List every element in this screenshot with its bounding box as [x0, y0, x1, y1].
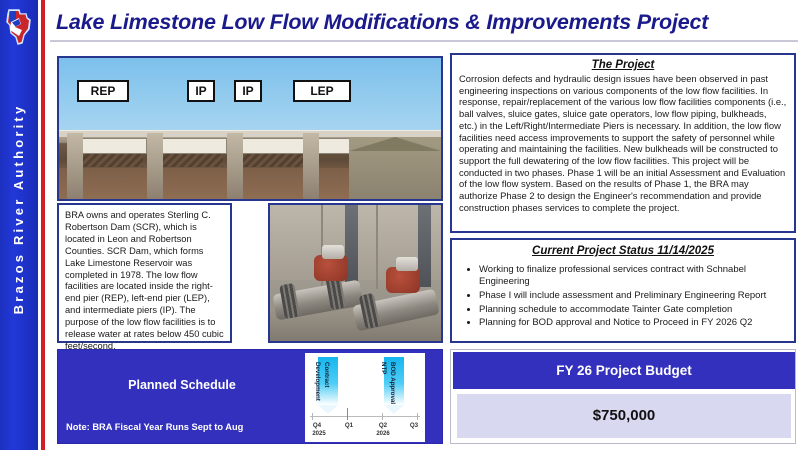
dam-pier [147, 133, 163, 199]
dam-truss [78, 154, 143, 167]
milestone-marker-contract-development: Contract Development [318, 357, 338, 405]
budget-panel: FY 26 Project Budget $750,000 [450, 349, 796, 444]
status-heading: Current Project Status 11/14/2025 [459, 245, 787, 257]
dam-truss [158, 154, 223, 167]
wall-seam [376, 205, 378, 289]
valve-operator [322, 245, 344, 259]
dam-pier [227, 133, 243, 199]
dam-photo: REP IP IP LEP [57, 56, 443, 201]
dam-pier [67, 133, 83, 199]
list-item: Planning for BOD approval and Notice to … [479, 317, 787, 329]
axis-label-q1: Q1 [338, 422, 360, 429]
bra-description-text: BRA owns and operates Sterling C. Robert… [57, 203, 232, 343]
dam-gate [235, 138, 308, 154]
axis-tick [417, 413, 418, 420]
axis-tick-major [347, 408, 348, 420]
dam-gate [74, 138, 147, 154]
axis-label-q2: Q2 [372, 422, 394, 429]
dam-deck [59, 130, 441, 137]
schedule-note: Note: BRA Fiscal Year Runs Sept to Aug [66, 422, 308, 432]
project-status-panel: Current Project Status 11/14/2025 Workin… [450, 238, 796, 343]
timeline-axis [310, 416, 420, 417]
list-item: Working to finalize professional service… [479, 264, 787, 288]
brand-sidebar: Brazos River Authority [0, 0, 38, 450]
schedule-title: Planned Schedule [66, 378, 298, 392]
axis-year-2025: 2025 [305, 431, 333, 437]
schedule-timeline-chart: Contract Development BOD Approval NTP Q4… [305, 353, 425, 442]
dam-truss [239, 154, 304, 167]
photo-label-ip-2: IP [234, 80, 262, 102]
slide-root: Brazos River Authority Lake Limestone Lo… [0, 0, 800, 450]
planned-schedule-panel: Planned Schedule Note: BRA Fiscal Year R… [57, 349, 443, 444]
valves-photo [268, 203, 443, 343]
brand-name: Brazos River Authority [0, 93, 38, 325]
project-heading: The Project [459, 59, 787, 71]
project-body-text: Corrosion defects and hydraulic design i… [459, 73, 787, 213]
texas-state-logo-icon [4, 6, 34, 48]
accent-stripe [41, 0, 45, 450]
status-bullet-list: Working to finalize professional service… [479, 264, 787, 330]
budget-header: FY 26 Project Budget [453, 352, 795, 389]
milestone-marker-bod-approval-ntp: BOD Approval NTP [384, 357, 404, 405]
budget-amount: $750,000 [457, 394, 791, 438]
list-item: Phase I will include assessment and Prel… [479, 290, 787, 302]
photo-label-rep: REP [77, 80, 129, 102]
milestone-label: Contract Development [313, 362, 331, 408]
milestone-label: BOD Approval NTP [379, 362, 397, 408]
page-title: Lake Limestone Low Flow Modifications & … [56, 6, 796, 38]
axis-label-q3: Q3 [403, 422, 425, 429]
project-description-panel: The Project Corrosion defects and hydrau… [450, 53, 796, 233]
title-divider [50, 40, 798, 42]
axis-year-2026: 2026 [369, 431, 397, 437]
axis-label-q4: Q4 [306, 422, 328, 429]
photo-label-lep: LEP [293, 80, 351, 102]
list-item: Planning schedule to accommodate Tainter… [479, 304, 787, 316]
dam-pier [303, 133, 319, 199]
dam-gate [155, 138, 228, 154]
axis-tick [382, 413, 383, 420]
photo-label-ip-1: IP [187, 80, 215, 102]
axis-tick [312, 413, 313, 420]
valve-operator [396, 257, 418, 271]
